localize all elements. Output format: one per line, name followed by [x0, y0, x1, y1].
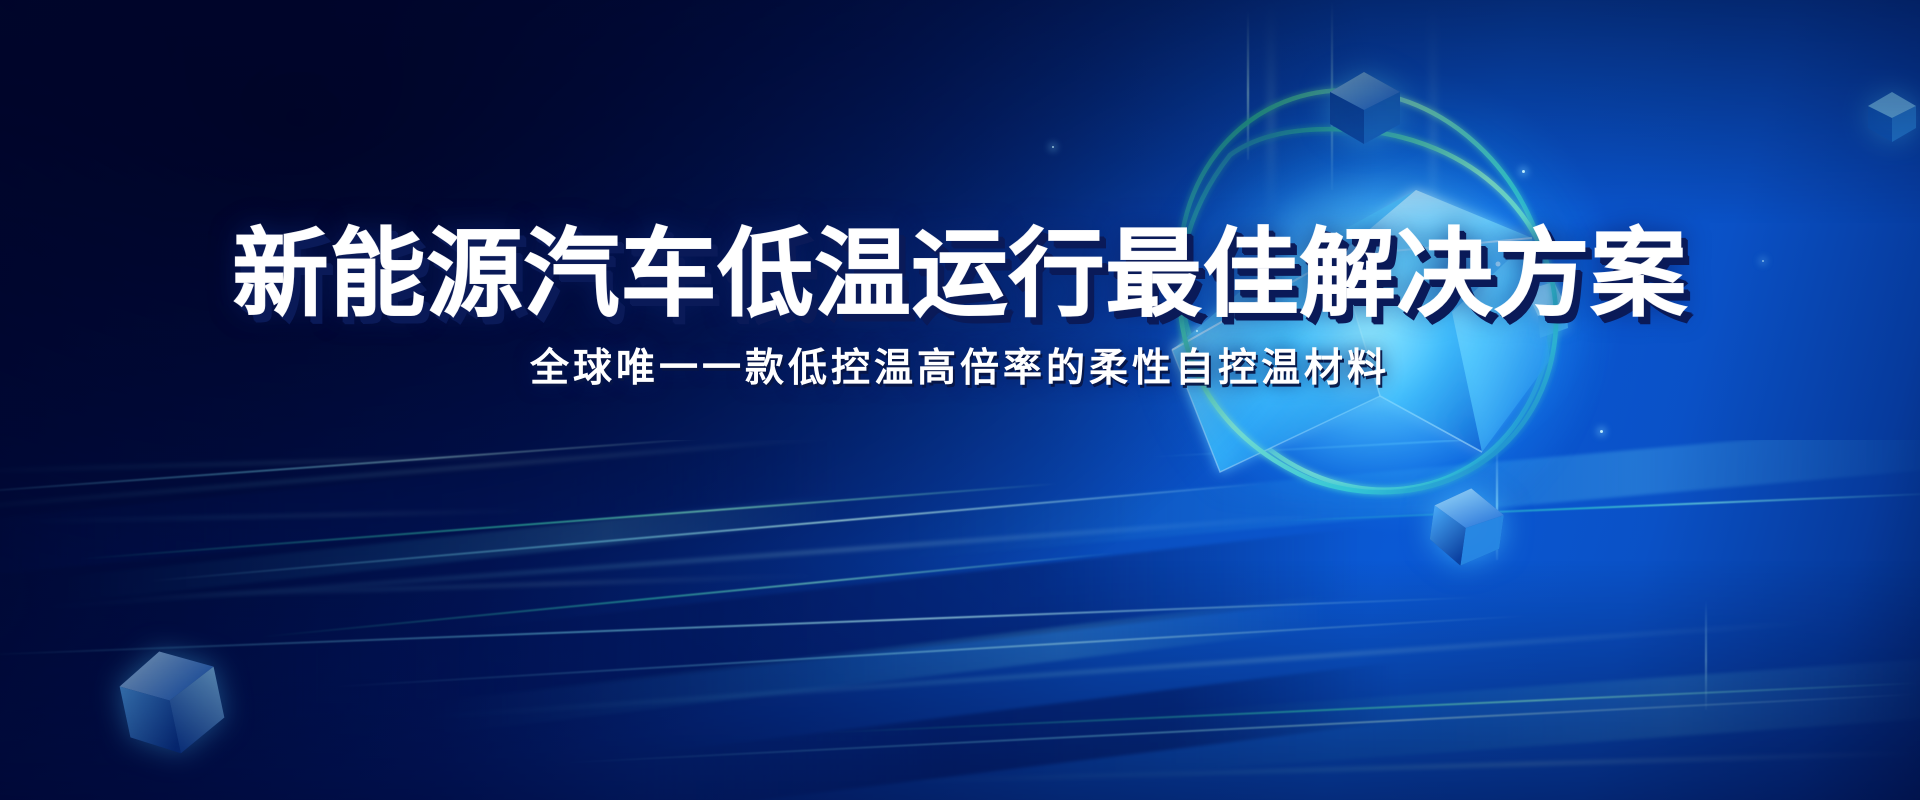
- page-title: 新能源汽车低温运行最佳解决方案: [0, 226, 1920, 324]
- background-vignette: [0, 0, 1920, 800]
- hero-banner: 新能源汽车低温运行最佳解决方案 全球唯一一款低控温高倍率的柔性自控温材料: [0, 0, 1920, 800]
- sparkle: [1522, 170, 1525, 173]
- page-subtitle: 全球唯一一款低控温高倍率的柔性自控温材料: [0, 348, 1920, 391]
- sparkle: [1600, 430, 1603, 433]
- sparkle: [1052, 146, 1054, 148]
- hero-text-block: 新能源汽车低温运行最佳解决方案 全球唯一一款低控温高倍率的柔性自控温材料: [0, 226, 1920, 391]
